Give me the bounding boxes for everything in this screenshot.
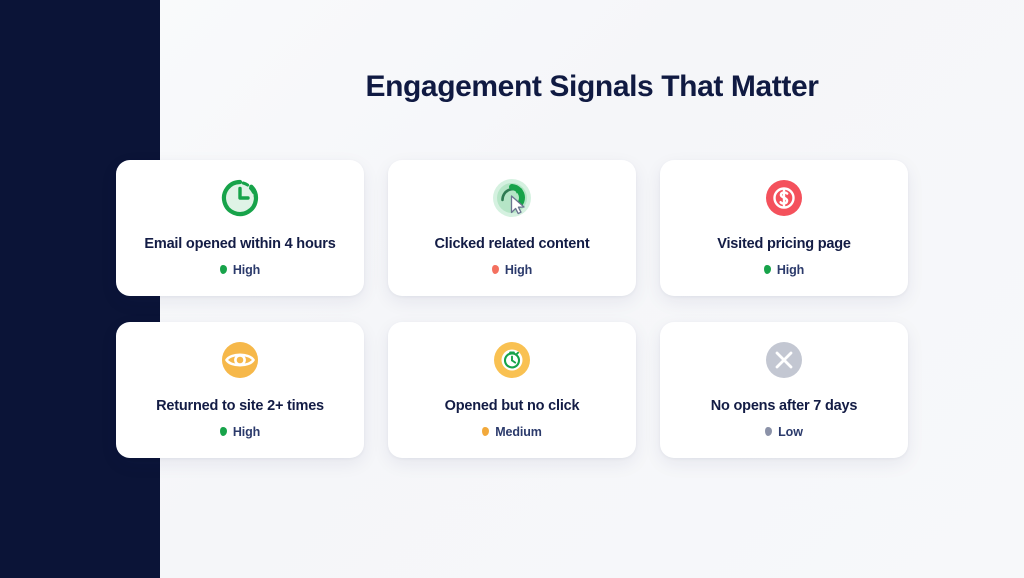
signal-card-opened-but-no-click[interactable]: Opened but no click Medium [388,322,636,458]
cursor-click-icon [488,174,536,222]
badge-label: High [233,263,260,277]
card-label: Returned to site 2+ times [156,398,324,415]
badge-label: Medium [495,425,542,439]
badge-label: High [777,263,804,277]
page-title: Engagement Signals That Matter [160,70,1024,104]
card-label: Opened but no click [445,398,580,415]
status-badge: High [764,263,804,277]
close-x-icon [760,336,808,384]
clock-icon [216,174,264,222]
badge-marker-icon [220,265,227,274]
dollar-icon [760,174,808,222]
badge-label: High [505,263,532,277]
card-label: No opens after 7 days [711,398,858,415]
status-badge: Medium [482,425,542,439]
card-label: Email opened within 4 hours [144,236,335,253]
card-label: Clicked related content [435,236,590,253]
status-badge: High [220,263,260,277]
status-badge: High [220,425,260,439]
signal-card-no-opens-after-7-days[interactable]: No opens after 7 days Low [660,322,908,458]
status-badge: Low [765,425,803,439]
signal-card-clicked-related-content[interactable]: Clicked related content High [388,160,636,296]
signal-card-returned-to-site-2-plus-times[interactable]: Returned to site 2+ times High [116,322,364,458]
badge-label: High [233,425,260,439]
signal-card-visited-pricing-page[interactable]: Visited pricing page High [660,160,908,296]
badge-marker-icon [482,427,489,436]
badge-marker-icon [492,265,499,274]
badge-label: Low [778,425,803,439]
badge-marker-icon [764,265,771,274]
status-badge: High [492,263,532,277]
eye-icon [216,336,264,384]
page-root: Engagement Signals That Matter Email ope… [0,0,1024,578]
badge-marker-icon [220,427,227,436]
card-label: Visited pricing page [717,236,851,253]
signal-card-email-opened-within-4-hours[interactable]: Email opened within 4 hours High [116,160,364,296]
stopwatch-icon [488,336,536,384]
signal-card-grid: Email opened within 4 hours High Clicked… [116,160,908,458]
badge-marker-icon [765,427,772,436]
